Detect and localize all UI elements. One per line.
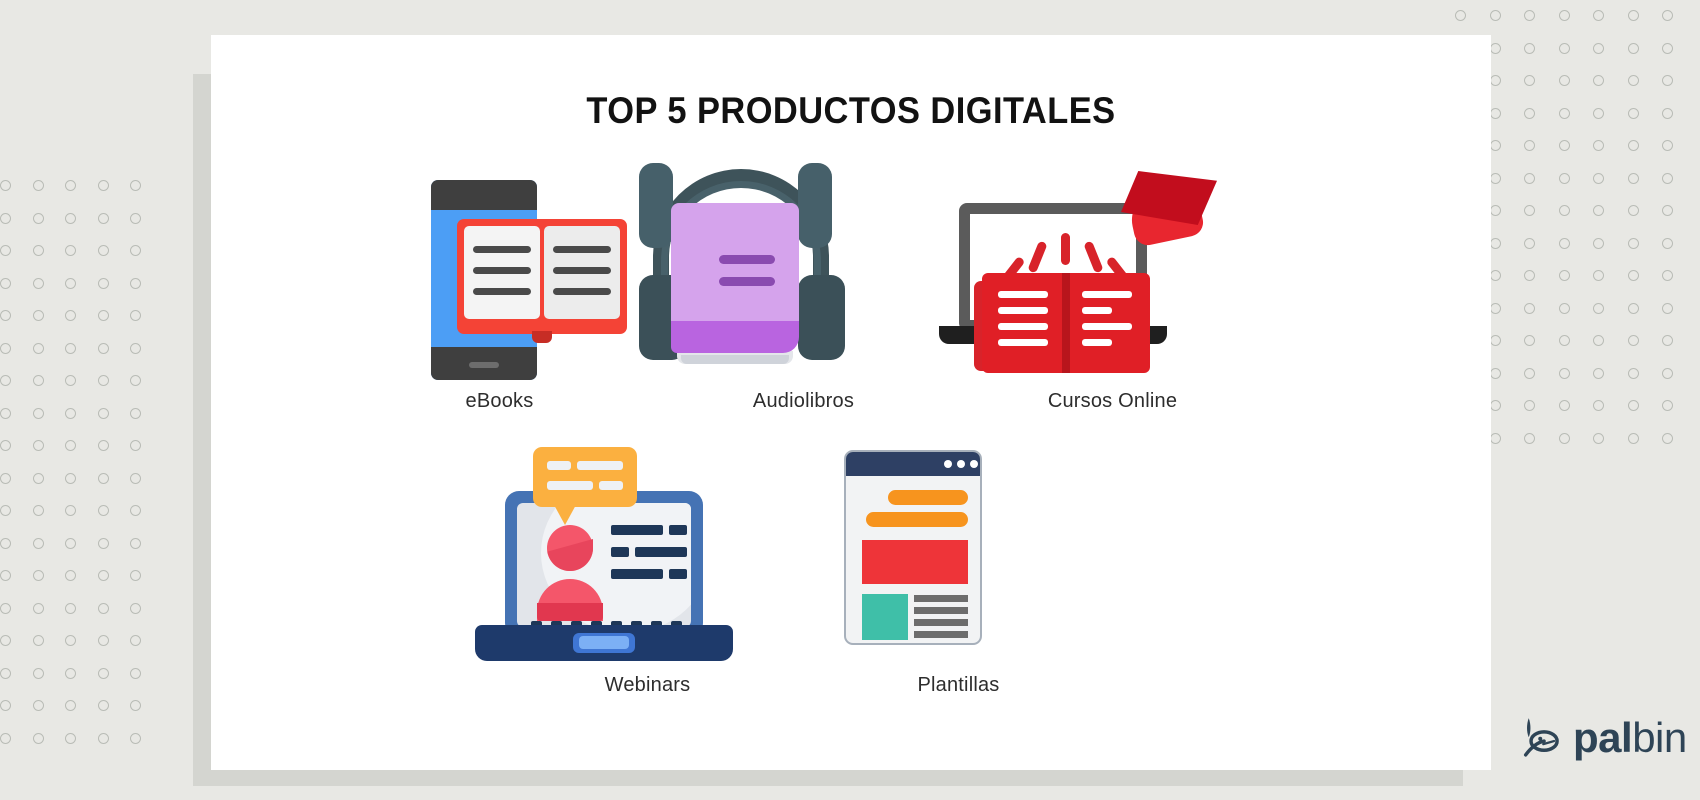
decorative-dot	[33, 310, 44, 321]
book-spine	[1062, 273, 1070, 373]
headphone-cup-right-inner	[798, 163, 832, 248]
decorative-dot	[33, 245, 44, 256]
decorative-dot	[1559, 140, 1570, 151]
speech-bubble	[533, 447, 637, 507]
decorative-dot	[33, 538, 44, 549]
window-dot-2	[957, 460, 965, 468]
decorative-dot	[0, 310, 11, 321]
decorative-dot	[1559, 108, 1570, 119]
decorative-dot	[1524, 303, 1535, 314]
decorative-dot	[98, 733, 109, 744]
decorative-dot	[1628, 433, 1639, 444]
decorative-dot	[1662, 433, 1673, 444]
decorative-dot	[0, 180, 11, 191]
headphones-with-book-icon	[631, 163, 976, 378]
decorative-dot	[0, 570, 11, 581]
phone-bottom-bezel	[431, 347, 537, 380]
decorative-dot	[0, 278, 11, 289]
decorative-dot	[1628, 238, 1639, 249]
decorative-dot	[1524, 173, 1535, 184]
decorative-dot	[1593, 43, 1604, 54]
template-frame	[844, 450, 982, 645]
decorative-dot	[65, 538, 76, 549]
decorative-dot	[1628, 270, 1639, 281]
decorative-dot	[1593, 10, 1604, 21]
item-webinars[interactable]: Webinars	[475, 447, 820, 697]
decorative-dot	[65, 245, 76, 256]
decorative-dot	[1662, 238, 1673, 249]
decorative-dot	[130, 733, 141, 744]
decorative-dot	[1559, 303, 1570, 314]
palbin-fish-logo-icon	[1518, 715, 1564, 761]
decorative-dot	[0, 505, 11, 516]
decorative-dot	[1524, 140, 1535, 151]
decorative-dot	[130, 603, 141, 614]
decorative-dot	[1628, 173, 1639, 184]
decorative-dot	[1490, 335, 1501, 346]
decorative-dot	[1662, 10, 1673, 21]
decorative-dot	[98, 245, 109, 256]
web-template-layout-icon	[786, 447, 1131, 662]
decorative-dot	[33, 278, 44, 289]
palbin-logo: palbin	[1518, 715, 1687, 761]
decorative-dot	[1593, 140, 1604, 151]
decorative-dot	[1662, 108, 1673, 119]
decorative-dot	[1593, 238, 1604, 249]
decorative-dot	[65, 473, 76, 484]
decorative-dot	[98, 310, 109, 321]
decorative-dot	[130, 440, 141, 451]
decorative-dot	[98, 603, 109, 614]
decorative-dot	[33, 375, 44, 386]
decorative-dot	[1490, 43, 1501, 54]
laptop-person-speech-bubble-icon	[475, 447, 820, 662]
decorative-dot	[1524, 368, 1535, 379]
page-title: TOP 5 PRODUCTOS DIGITALES	[256, 90, 1446, 132]
decorative-dot	[130, 538, 141, 549]
decorative-dot	[98, 570, 109, 581]
laptop-screen	[517, 503, 691, 627]
decorative-dot	[0, 538, 11, 549]
decorative-dot	[33, 505, 44, 516]
decorative-dot	[98, 343, 109, 354]
decorative-dot	[0, 375, 11, 386]
book-page-left	[464, 226, 540, 319]
decorative-dot	[1628, 303, 1639, 314]
decorative-dot	[98, 505, 109, 516]
decorative-dot	[33, 668, 44, 679]
decorative-dot	[0, 635, 11, 646]
ray-3	[1061, 233, 1070, 265]
decorative-dot	[65, 180, 76, 191]
open-book	[982, 273, 1150, 373]
decorative-dot	[1490, 270, 1501, 281]
decorative-dot	[1593, 400, 1604, 411]
decorative-dot	[1524, 433, 1535, 444]
headphone-cup-left-inner	[639, 163, 673, 248]
item-label-audiolibros: Audiolibros	[631, 390, 976, 413]
decorative-dot	[65, 668, 76, 679]
logo-text-bold: pal	[1573, 714, 1632, 761]
decorative-dot	[1628, 108, 1639, 119]
decorative-dot	[1559, 43, 1570, 54]
phone-with-open-book-icon	[327, 163, 672, 378]
decorative-dot	[0, 343, 11, 354]
decorative-dot	[0, 700, 11, 711]
decorative-dot	[65, 343, 76, 354]
decorative-dot	[1628, 368, 1639, 379]
decorative-dot	[1662, 400, 1673, 411]
decorative-dot	[1524, 75, 1535, 86]
laptop-lid	[505, 491, 703, 637]
decorative-dot	[0, 440, 11, 451]
infographic-canvas: TOP 5 PRODUCTOS DIGITALES	[0, 0, 1700, 800]
decorative-dot	[65, 310, 76, 321]
decorative-dot	[0, 408, 11, 419]
logo-text-thin: bin	[1632, 714, 1687, 761]
audiobook-cover	[671, 203, 799, 368]
decorative-dot	[33, 180, 44, 191]
decorative-dot	[0, 213, 11, 224]
decorative-dot	[1524, 205, 1535, 216]
decorative-dot	[33, 733, 44, 744]
decorative-dot	[98, 538, 109, 549]
decorative-dot	[1628, 400, 1639, 411]
book-spine	[671, 321, 799, 353]
decorative-dot	[1559, 75, 1570, 86]
decorative-dot	[1662, 173, 1673, 184]
decorative-dot	[1559, 10, 1570, 21]
decorative-dot	[1662, 43, 1673, 54]
headphone-cup-right	[798, 275, 845, 360]
decorative-dot	[65, 375, 76, 386]
decorative-dot	[1593, 433, 1604, 444]
item-label-cursos-online: Cursos Online	[935, 390, 1290, 413]
decorative-dot	[130, 278, 141, 289]
decorative-dot	[1559, 173, 1570, 184]
decorative-dot	[1490, 238, 1501, 249]
decorative-dot	[1490, 173, 1501, 184]
decorative-dot	[1559, 270, 1570, 281]
decorative-dot	[1455, 10, 1466, 21]
gray-bar-4	[914, 631, 968, 638]
decorative-dot	[33, 700, 44, 711]
decorative-dot	[1490, 75, 1501, 86]
avatar-body-shade	[537, 603, 603, 621]
decorative-dot	[33, 570, 44, 581]
decorative-dot	[1559, 400, 1570, 411]
decorative-dot	[1593, 108, 1604, 119]
dot-pattern-right	[1455, 10, 1700, 490]
decorative-dot	[65, 733, 76, 744]
item-plantillas[interactable]: Plantillas	[786, 447, 1131, 697]
content-card: TOP 5 PRODUCTOS DIGITALES	[211, 35, 1491, 770]
decorative-dot	[1662, 335, 1673, 346]
decorative-dot	[1490, 108, 1501, 119]
item-label-ebooks: eBooks	[327, 390, 672, 413]
decorative-dot	[130, 213, 141, 224]
decorative-dot	[1593, 335, 1604, 346]
decorative-dot	[130, 505, 141, 516]
decorative-dot	[33, 408, 44, 419]
decorative-dot	[1593, 173, 1604, 184]
window-dot-3	[970, 460, 978, 468]
decorative-dot	[1490, 303, 1501, 314]
decorative-dot	[33, 213, 44, 224]
decorative-dot	[1559, 433, 1570, 444]
decorative-dot	[1490, 368, 1501, 379]
open-book	[457, 219, 627, 334]
decorative-dot	[1662, 75, 1673, 86]
palbin-wordmark: palbin	[1573, 717, 1687, 759]
decorative-dot	[1490, 433, 1501, 444]
decorative-dot	[65, 603, 76, 614]
decorative-dot	[1524, 400, 1535, 411]
decorative-dot	[1628, 43, 1639, 54]
book-body	[671, 203, 799, 343]
decorative-dot	[65, 700, 76, 711]
decorative-dot	[1662, 368, 1673, 379]
decorative-dot	[1662, 205, 1673, 216]
decorative-dot	[1524, 335, 1535, 346]
decorative-dot	[65, 408, 76, 419]
decorative-dot	[130, 375, 141, 386]
decorative-dot	[130, 180, 141, 191]
decorative-dot	[0, 668, 11, 679]
decorative-dot	[130, 408, 141, 419]
decorative-dot	[1593, 205, 1604, 216]
decorative-dot	[1593, 75, 1604, 86]
decorative-dot	[1593, 368, 1604, 379]
decorative-dot	[130, 700, 141, 711]
decorative-dot	[1524, 108, 1535, 119]
decorative-dot	[65, 440, 76, 451]
decorative-dot	[98, 473, 109, 484]
decorative-dot	[1662, 140, 1673, 151]
decorative-dot	[1628, 140, 1639, 151]
decorative-dot	[98, 700, 109, 711]
decorative-dot	[1662, 270, 1673, 281]
decorative-dot	[98, 440, 109, 451]
dot-pattern-left	[0, 180, 185, 800]
decorative-dot	[1628, 335, 1639, 346]
decorative-dot	[1662, 303, 1673, 314]
decorative-dot	[65, 635, 76, 646]
decorative-dot	[1490, 10, 1501, 21]
decorative-dot	[33, 440, 44, 451]
decorative-dot	[1593, 303, 1604, 314]
phone-home-button	[469, 362, 499, 368]
decorative-dot	[1559, 238, 1570, 249]
decorative-dot	[98, 278, 109, 289]
decorative-dot	[1524, 10, 1535, 21]
decorative-dot	[33, 343, 44, 354]
gray-bar-2	[914, 607, 968, 614]
decorative-dot	[65, 570, 76, 581]
decorative-dot	[0, 473, 11, 484]
decorative-dot	[1593, 270, 1604, 281]
decorative-dot	[130, 473, 141, 484]
item-label-webinars: Webinars	[475, 674, 820, 697]
decorative-dot	[1490, 205, 1501, 216]
decorative-dot	[98, 408, 109, 419]
decorative-dot	[1628, 10, 1639, 21]
item-cursos-online[interactable]: Cursos Online	[935, 163, 1290, 413]
decorative-dot	[130, 570, 141, 581]
decorative-dot	[65, 278, 76, 289]
teal-block	[862, 594, 908, 640]
decorative-dot	[1524, 43, 1535, 54]
decorative-dot	[130, 310, 141, 321]
decorative-dot	[98, 635, 109, 646]
decorative-dot	[1559, 335, 1570, 346]
item-label-plantillas: Plantillas	[786, 674, 1131, 697]
decorative-dot	[1524, 270, 1535, 281]
laptop-book-graduation-cap-icon	[935, 163, 1290, 378]
gray-bar-1	[914, 595, 968, 602]
decorative-dot	[130, 343, 141, 354]
red-block	[862, 540, 968, 584]
book-pages-shadow	[681, 355, 789, 364]
decorative-dot	[1628, 75, 1639, 86]
template-title-bar	[846, 452, 980, 476]
decorative-dot	[98, 180, 109, 191]
book-page-right	[1068, 273, 1150, 373]
decorative-dot	[1490, 140, 1501, 151]
window-dot-1	[944, 460, 952, 468]
book-page-right	[544, 226, 620, 319]
orange-bar-2	[866, 512, 968, 527]
decorative-dot	[65, 213, 76, 224]
decorative-dot	[1559, 368, 1570, 379]
decorative-dot	[1628, 205, 1639, 216]
gray-bar-3	[914, 619, 968, 626]
phone-top-bezel	[431, 180, 537, 210]
decorative-dot	[1490, 400, 1501, 411]
decorative-dot	[33, 603, 44, 614]
decorative-dot	[33, 473, 44, 484]
decorative-dot	[0, 733, 11, 744]
decorative-dot	[33, 635, 44, 646]
decorative-dot	[0, 603, 11, 614]
decorative-dot	[98, 213, 109, 224]
item-audiolibros[interactable]: Audiolibros	[631, 163, 976, 413]
decorative-dot	[130, 635, 141, 646]
laptop-trackpad-inner	[579, 636, 629, 649]
decorative-dot	[0, 245, 11, 256]
decorative-dot	[130, 668, 141, 679]
graduation-cap-icon	[1121, 171, 1221, 251]
book-bookmark	[532, 331, 552, 343]
decorative-dot	[1559, 205, 1570, 216]
decorative-dot	[1524, 238, 1535, 249]
decorative-dot	[98, 375, 109, 386]
orange-bar-1	[888, 490, 968, 505]
decorative-dot	[98, 668, 109, 679]
item-ebooks[interactable]: eBooks	[327, 163, 672, 413]
decorative-dot	[65, 505, 76, 516]
book-page-left	[982, 273, 1064, 373]
decorative-dot	[130, 245, 141, 256]
